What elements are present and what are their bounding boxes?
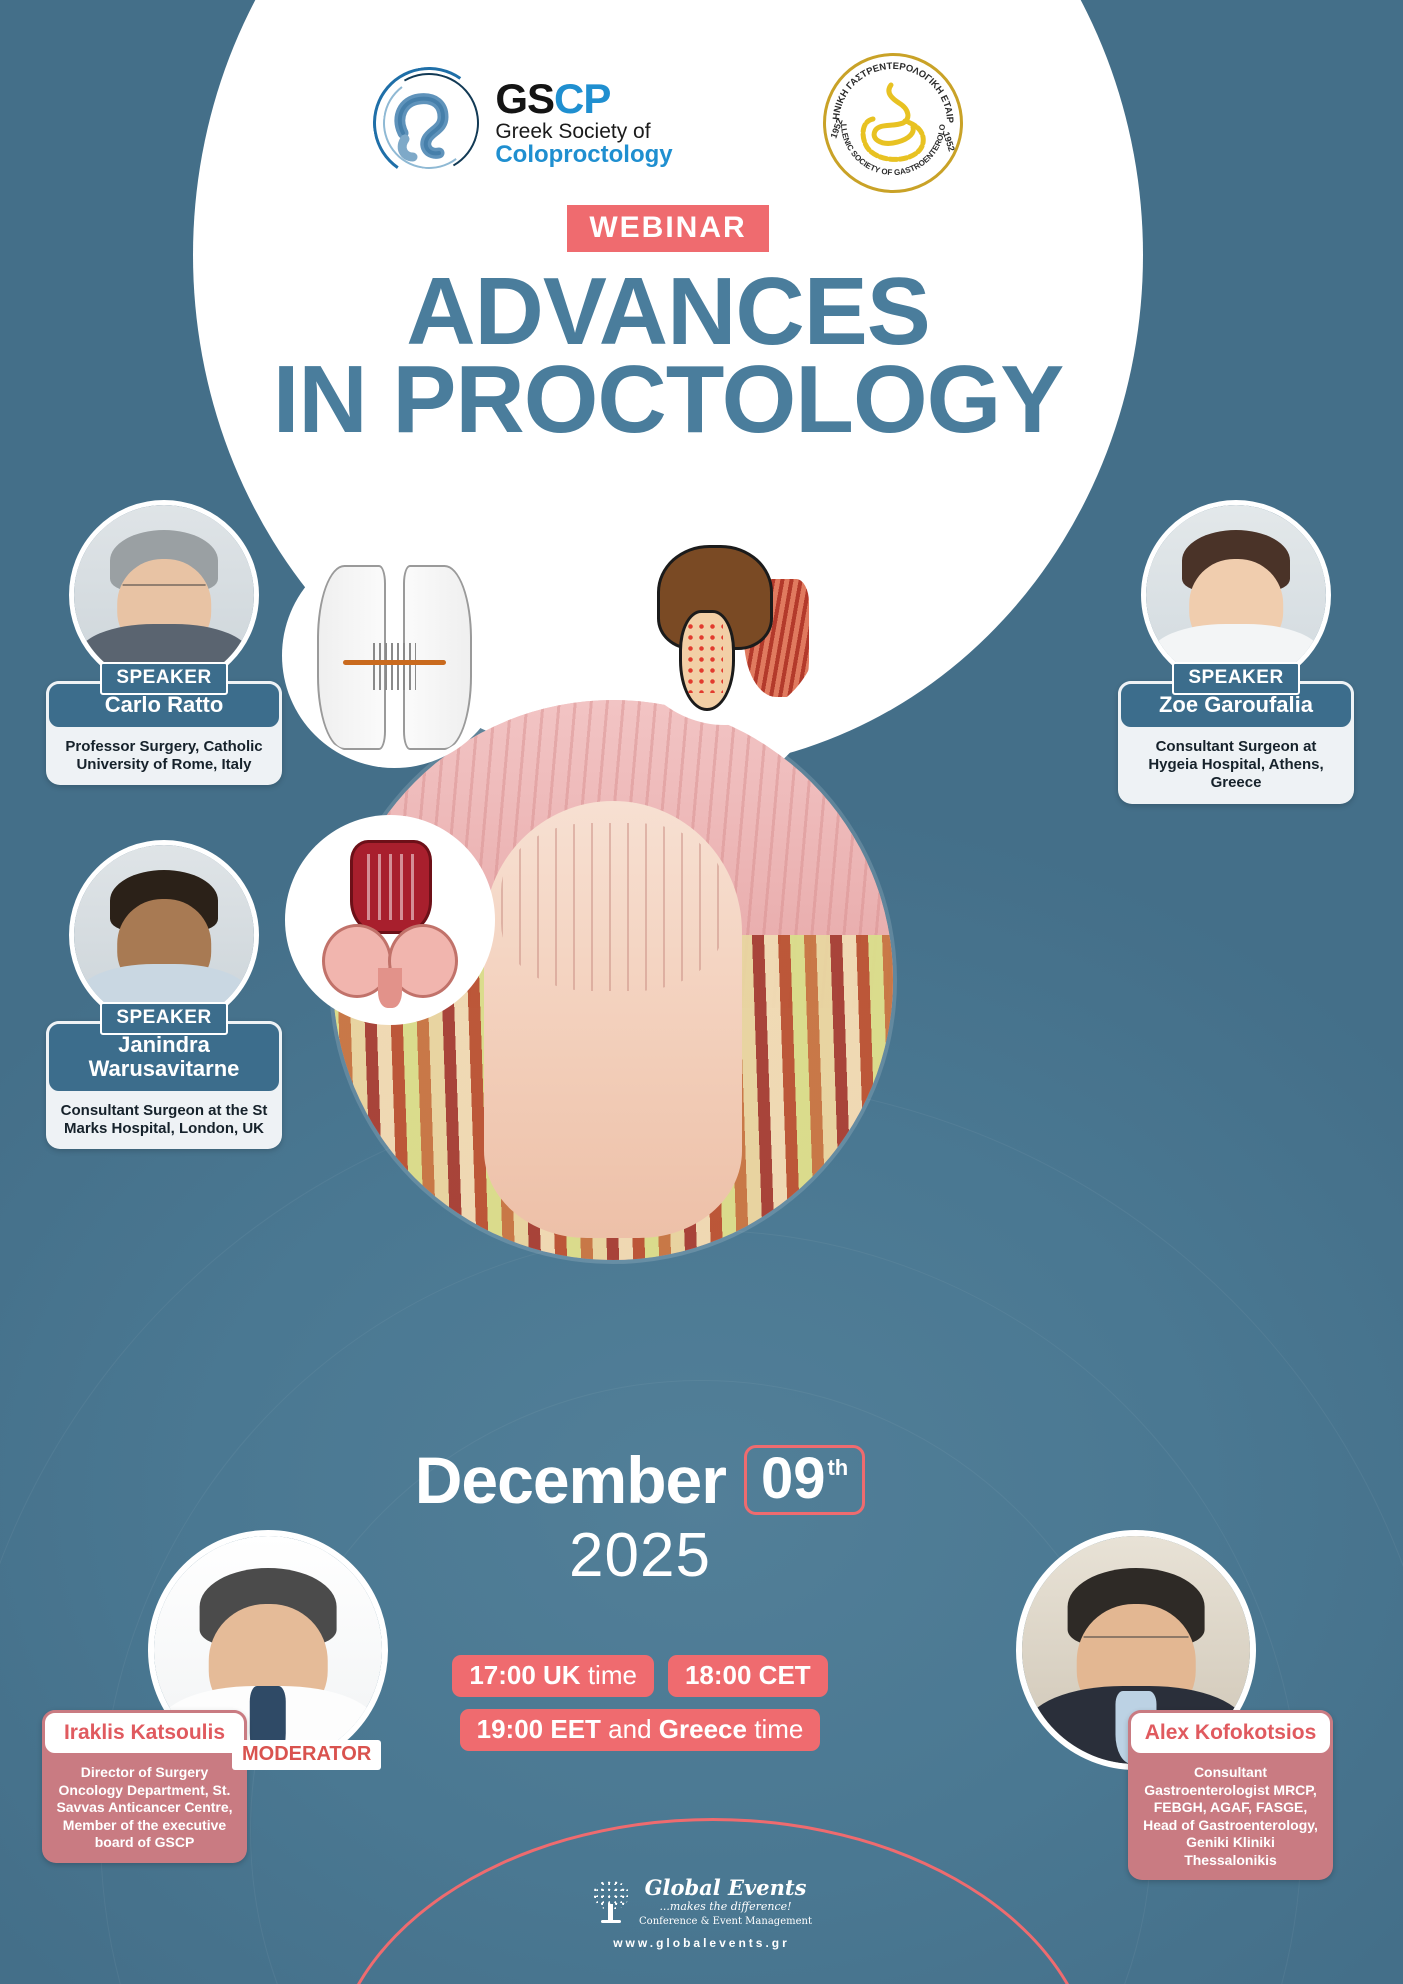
role-badge: SPEAKER <box>1172 662 1299 695</box>
time-badge-cet: 18:00 CET <box>668 1655 828 1697</box>
speaker-card-carlo-ratto: SPEAKER Carlo Ratto Professor Surgery, C… <box>46 500 282 785</box>
speaker-bio: Consultant Surgeon at Hygeia Hospital, A… <box>1118 730 1354 793</box>
speaker-card-janindra-warusavitarne: SPEAKER Janindra Warusavitarne Consultan… <box>46 840 282 1149</box>
colon-logo-icon <box>373 67 485 179</box>
speaker-info-card: Zoe Garoufalia Consultant Surgeon at Hyg… <box>1118 681 1354 804</box>
time-badge-uk: 17:00 UK time <box>452 1655 654 1697</box>
gscp-acronym-dark: GS <box>495 75 554 122</box>
speaker-bio: Consultant Surgeon at the St Marks Hospi… <box>46 1094 282 1139</box>
event-times-block: 17:00 UK time 18:00 CET 19:00 EET and Gr… <box>330 1655 950 1763</box>
hellenic-society-logo: ΕΛΛΗΝΙΚΗ ΓΑΣΤΡΕΝΤΕΡΟΛΟΓΙΚΗ ΕΤΑΙΡΕΙΑ HELL… <box>823 53 963 193</box>
time-eet-value: 19:00 EET <box>477 1714 601 1744</box>
event-day-badge: 09 th <box>744 1445 865 1515</box>
gscp-logo: GSCP Greek Society of Coloproctology <box>373 67 672 179</box>
gscp-acronym-blue: CP <box>554 75 610 122</box>
time-cet-value: 18:00 CET <box>685 1660 811 1690</box>
event-day: 09 <box>761 1450 826 1508</box>
moderator-badge: MODERATOR <box>232 1740 381 1770</box>
footer-subtitle: Conference & Event Management <box>639 1916 812 1927</box>
logo-bar: GSCP Greek Society of Coloproctology ΕΛΛ… <box>193 40 1143 205</box>
speaker-bio: Professor Surgery, Catholic University o… <box>46 730 282 775</box>
time-eet-conj: and <box>608 1714 651 1744</box>
time-uk-label: time <box>588 1660 637 1690</box>
person-bio: Consultant Gastroenterologist MRCP, FEBG… <box>1128 1756 1333 1869</box>
time-uk-value: 17:00 UK <box>469 1660 580 1690</box>
global-events-logo: Global Events ...makes the difference! C… <box>542 1877 862 1950</box>
speaker-card-zoe-garoufalia: SPEAKER Zoe Garoufalia Consultant Surgeo… <box>1118 500 1354 804</box>
person-info-card: Alex Kofokotsios Consultant Gastroentero… <box>1128 1710 1333 1880</box>
time-badge-eet: 19:00 EET and Greece time <box>460 1709 821 1751</box>
anatomy-inset-diagram-1 <box>287 548 502 763</box>
person-name: Iraklis Katsoulis <box>42 1710 247 1756</box>
footer-tagline: ...makes the difference! <box>639 1900 812 1913</box>
time-eet-label: time <box>754 1714 803 1744</box>
gscp-line2: Coloproctology <box>495 143 672 167</box>
person-info-card: Iraklis Katsoulis Director of Surgery On… <box>42 1710 247 1863</box>
event-date-block: December 09 th 2025 <box>330 1445 950 1587</box>
tree-logo-icon <box>591 1880 631 1924</box>
stomach-intestine-icon <box>839 69 947 177</box>
title-block: WEBINAR ADVANCES IN PROCTOLOGY <box>193 205 1143 445</box>
gscp-line1: Greek Society of <box>495 121 672 142</box>
anatomy-inset-diagram-2 <box>630 530 820 720</box>
webinar-poster: GSCP Greek Society of Coloproctology ΕΛΛ… <box>0 0 1403 1984</box>
page-title: ADVANCES IN PROCTOLOGY <box>193 268 1143 445</box>
time-eet-region: Greece <box>659 1714 747 1744</box>
footer-url[interactable]: www.globalevents.gr <box>542 1936 862 1950</box>
event-day-suffix: th <box>827 1455 848 1481</box>
person-card-alex-kofokotsios: Alex Kofokotsios Consultant Gastroentero… <box>1128 1710 1333 1880</box>
webinar-badge: WEBINAR <box>567 205 768 252</box>
role-badge: SPEAKER <box>100 662 227 695</box>
event-month: December <box>415 1447 726 1513</box>
event-year: 2025 <box>330 1525 950 1587</box>
speaker-info-card: Janindra Warusavitarne Consultant Surgeo… <box>46 1021 282 1149</box>
person-name: Alex Kofokotsios <box>1128 1710 1333 1756</box>
role-badge: SPEAKER <box>100 1002 227 1035</box>
anatomy-inset-diagram-3 <box>290 820 490 1020</box>
person-bio: Director of Surgery Oncology Department,… <box>42 1756 247 1852</box>
footer-brand: Global Events <box>639 1877 812 1898</box>
title-line-1: ADVANCES <box>193 268 1143 356</box>
title-line-2: IN PROCTOLOGY <box>193 356 1143 444</box>
speaker-info-card: Carlo Ratto Professor Surgery, Catholic … <box>46 681 282 785</box>
person-card-iraklis-katsoulis: Iraklis Katsoulis Director of Surgery On… <box>42 1710 247 1863</box>
